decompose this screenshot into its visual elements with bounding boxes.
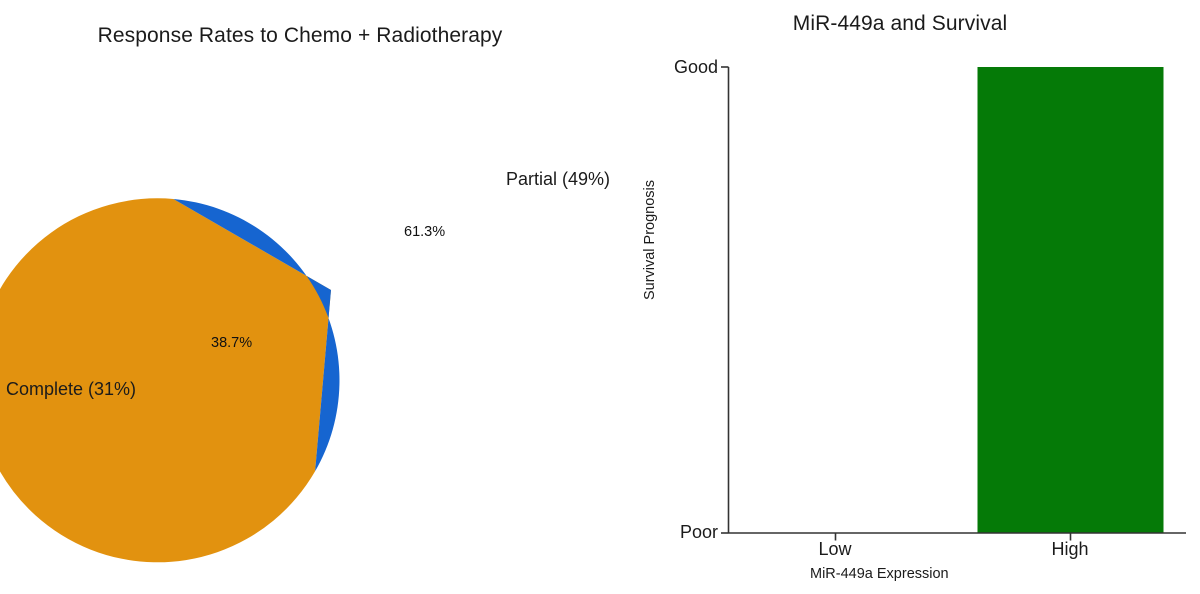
figure-canvas: Response Rates to Chemo + Radiotherapy 6… — [0, 0, 1200, 594]
y-axis-tick-label-good: Good — [598, 57, 718, 78]
x-axis-tick-label-low: Low — [755, 539, 915, 560]
y-axis-title: Survival Prognosis — [642, 160, 658, 320]
x-axis-title: MiR-449a Expression — [810, 566, 1200, 582]
bar-high[interactable] — [978, 67, 1164, 533]
y-axis-tick-label-poor: Poor — [598, 522, 718, 543]
x-axis-tick-label-high: High — [990, 539, 1150, 560]
bar-chart-graphic — [0, 0, 1200, 594]
